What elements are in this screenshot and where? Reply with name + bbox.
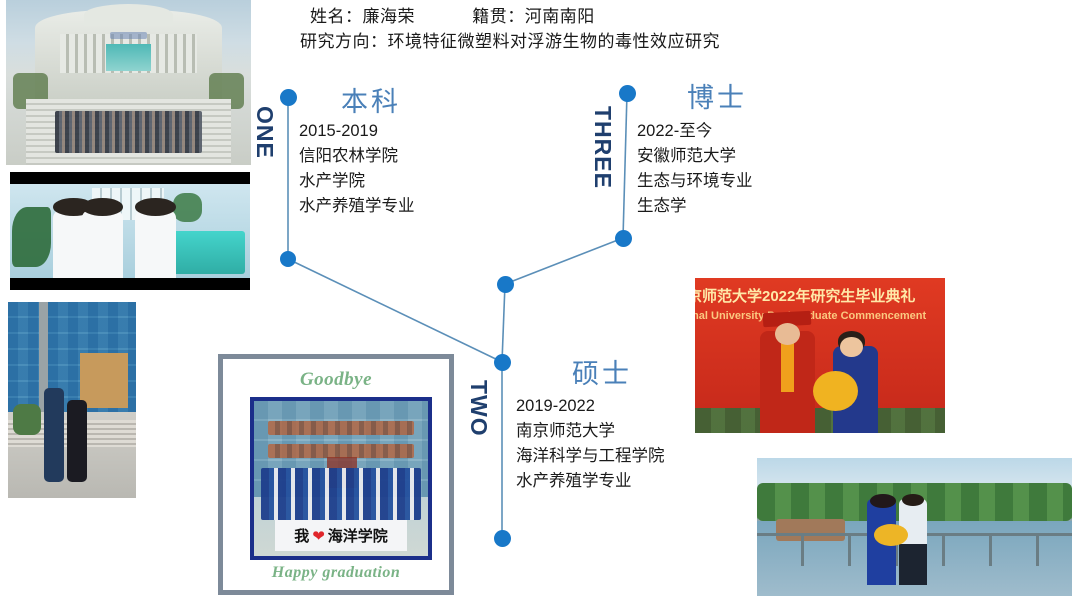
person-man [44,388,64,482]
commencement-banner-cn: 京师范大学2022年研究生毕业典礼 [695,286,945,308]
banner-suffix: 海洋学院 [328,525,388,546]
goodbye-bottom-text: Happy graduation [223,564,449,582]
two-people-building-photo [8,302,136,498]
lab-frame-inner [10,184,250,278]
stage-title-three: 博士 [687,76,747,115]
lake-person-trousers [899,544,927,585]
lab-plant-left [12,207,50,267]
goodbye-top-text: Goodbye [223,369,449,391]
lakeside-graduation-photo [757,458,1072,596]
goodbye-banner: 我 ❤ 海洋学院 [275,520,407,551]
timeline-node-three-bottom[interactable] [615,230,632,247]
building-shape [35,10,221,109]
commencement-photo: 京师范大学2022年研究生毕业典礼 mal University Postgra… [695,278,945,433]
flower-bouquet [813,371,858,411]
professor-red-robe [760,331,815,433]
research-value: 环境特征微塑料对浮游生物的毒性效应研究 [388,32,721,51]
timeline-node-one-top[interactable] [280,89,297,106]
potted-plants-row [695,408,945,433]
timeline-node-three-top[interactable] [619,85,636,102]
research-label: 研究方向： [300,32,388,51]
timeline-index-three: THREE [589,106,616,189]
professor-face [775,323,800,345]
hometown-label: 籍贯： [472,7,525,26]
name-value: 廉海荣 [363,7,416,26]
timeline-node-two-top[interactable] [497,276,514,293]
stage-title-one: 本科 [341,80,401,119]
goodbye-graduates-row [261,468,421,521]
banner-prefix: 我 [294,525,309,546]
lake-head-1 [870,494,895,508]
lab-person-2 [82,210,123,278]
stage-body-two: 2019-2022 南京师范大学 海洋科学与工程学院 水产养殖学专业 [516,394,665,494]
goodbye-graduation-frame: Goodbye 我 ❤ 海洋学院 Happy graduation [218,354,454,595]
dome-shape [84,4,173,26]
commencement-banner-en: mal University Postgraduate Commencement [695,308,945,324]
entrance-shape [106,44,151,72]
timeline-index-two: TWO [465,380,492,437]
lab-head-3 [135,198,176,216]
timeline-node-one-bottom[interactable] [280,251,296,267]
laboratory-photo [10,172,250,290]
timeline-node-two-middle[interactable] [494,354,511,371]
building-sign [110,32,147,39]
slide-canvas: 姓名：廉海荣 籍贯：河南南阳 研究方向：环境特征微塑料对浮游生物的毒性效应研究 [0,0,1080,608]
goodbye-calligraphy-line-1 [268,421,414,435]
timeline-node-two-bottom[interactable] [494,530,511,547]
student-face [840,337,863,357]
group-crowd [55,111,202,154]
stage-body-one: 2015-2019 信阳农林学院 水产学院 水产养殖学专业 [299,119,415,219]
campus-group-photo [6,0,251,165]
lab-person-3 [135,210,176,278]
stage-title-two: 硕士 [572,352,632,391]
timeline-index-one: ONE [251,106,278,159]
lab-plant-right [173,193,202,221]
facade-entrance [80,353,129,408]
person-woman-gown [67,400,87,482]
heart-icon: ❤ [312,527,325,545]
header-info: 姓名：廉海荣 籍贯：河南南阳 研究方向：环境特征微塑料对浮游生物的毒性效应研究 [300,4,920,54]
goodbye-inner-photo: 我 ❤ 海洋学院 [250,397,432,560]
stage-body-three: 2022-至今 安徽师范大学 生态与环境专业 生态学 [637,119,753,219]
name-label: 姓名： [310,7,363,26]
lab-head-2 [82,198,123,216]
hometown-value: 河南南阳 [525,7,595,26]
facade-bush [13,404,41,435]
